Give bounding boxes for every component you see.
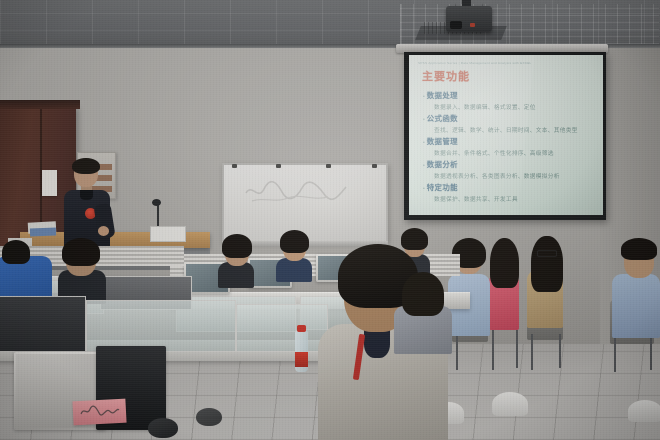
slide-section-heading: 数据处理	[427, 90, 458, 101]
slide-section: • 特定功能 数据保护、数据共享、开发工具	[418, 182, 596, 203]
slide-section-heading: 特定功能	[427, 182, 458, 193]
presenter-hair	[72, 158, 100, 174]
slide-section-heading: 数据分析	[427, 159, 458, 170]
desk-white-box	[150, 226, 186, 242]
desk-privacy-divider	[0, 296, 86, 352]
slide-section-heading: 数据管理	[427, 136, 458, 147]
ceiling	[0, 0, 660, 48]
projection-screen-surface: SPSS Application Series | Data Managemen…	[409, 55, 603, 215]
bullet-dot-icon: •	[423, 118, 425, 123]
student-tan-jacket	[525, 236, 565, 332]
handwriting-marks	[79, 403, 122, 417]
handwritten-desk-label	[72, 399, 126, 426]
projector-led-icon	[470, 23, 475, 27]
chair-leg	[559, 334, 561, 368]
bullet-dot-icon: •	[423, 187, 425, 192]
slide-section-detail: 数据录入、数据编辑、格式设置、定位	[434, 102, 596, 111]
student-dark-shirt	[58, 242, 106, 302]
whiteboard-clip-4	[372, 164, 377, 168]
computer-mouse	[196, 408, 222, 426]
desk-book	[30, 228, 56, 237]
desk-privacy-divider	[86, 300, 236, 352]
chair-leg	[516, 330, 518, 368]
slide-section-list: • 数据处理 数据录入、数据编辑、格式设置、定位 • 公式函数 查找、逻辑、数学…	[418, 90, 596, 203]
presenter-collar	[80, 190, 93, 200]
slide-section-detail: 数据合并、条件格式、个性化排序、高级筛选	[434, 148, 596, 157]
student-dark-shirt	[218, 236, 254, 286]
posted-paper-note	[42, 170, 57, 196]
whiteboard	[222, 163, 388, 243]
student-pink-top	[487, 240, 521, 332]
computer-mouse	[148, 418, 178, 438]
whiteboard-clip-2	[276, 164, 281, 168]
eyeglasses-icon	[537, 250, 557, 257]
student-light-blue	[448, 238, 490, 336]
student-hair	[62, 238, 100, 266]
slide-section: • 数据管理 数据合并、条件格式、个性化排序、高级筛选	[418, 136, 596, 157]
slide-section: • 数据处理 数据录入、数据编辑、格式设置、定位	[418, 90, 596, 111]
white-stool	[628, 400, 660, 422]
classroom-photo-scene: SPSS Application Series | Data Managemen…	[0, 0, 660, 440]
chair-leg	[650, 338, 652, 370]
bullet-dot-icon: •	[423, 141, 425, 146]
chair-leg	[456, 336, 458, 370]
student-hair	[621, 238, 657, 260]
slide-section-detail: 查找、逻辑、数学、统计、日期时间、文本、其他类型	[434, 125, 596, 134]
student-hair	[402, 272, 444, 316]
projector-lens-icon	[450, 21, 462, 29]
slide-section-heading: 公式函数	[427, 113, 458, 124]
presenter-hand	[98, 226, 109, 236]
student-right-blue	[612, 238, 660, 338]
bullet-dot-icon: •	[423, 164, 425, 169]
slide-section: • 数据分析 数据透视表分析、各类图表分析、数据模拟分析	[418, 159, 596, 180]
chair-leg	[492, 330, 494, 370]
slide-section-detail: 数据保护、数据共享、开发工具	[434, 194, 596, 203]
student-dark-shirt	[394, 272, 452, 352]
slide-section: • 公式函数 查找、逻辑、数学、统计、日期时间、文本、其他类型	[418, 113, 596, 134]
bottle-label	[295, 352, 308, 367]
student-hair	[280, 230, 309, 253]
presentation-slide: SPSS Application Series | Data Managemen…	[409, 55, 603, 215]
student-back-row-navy	[276, 232, 312, 280]
projection-screen: SPSS Application Series | Data Managemen…	[404, 52, 606, 220]
microphone-icon	[152, 199, 161, 206]
student-hair	[222, 234, 252, 258]
whiteboard-erased-writing	[242, 179, 362, 205]
student-hair	[2, 240, 30, 264]
slide-section-detail: 数据透视表分析、各类图表分析、数据模拟分析	[434, 171, 596, 180]
ceiling-projector-icon	[446, 6, 492, 32]
bullet-dot-icon: •	[423, 95, 425, 100]
cabinet-top-edge	[0, 100, 80, 109]
student-hair	[401, 228, 428, 250]
desk-privacy-divider	[236, 304, 328, 352]
student-torso	[276, 258, 312, 282]
whiteboard-clip-3	[326, 164, 331, 168]
chair-leg	[614, 338, 616, 372]
student-hair-long	[531, 236, 563, 292]
slide-header-line: SPSS Application Series | Data Managemen…	[418, 61, 596, 65]
bottle-cap	[297, 325, 306, 332]
slide-title: 主要功能	[422, 68, 596, 84]
chair-leg	[531, 334, 533, 370]
white-stool	[492, 392, 528, 416]
student-torso	[612, 274, 660, 338]
whiteboard-clip-1	[232, 164, 237, 168]
student-hair-long	[490, 238, 519, 288]
